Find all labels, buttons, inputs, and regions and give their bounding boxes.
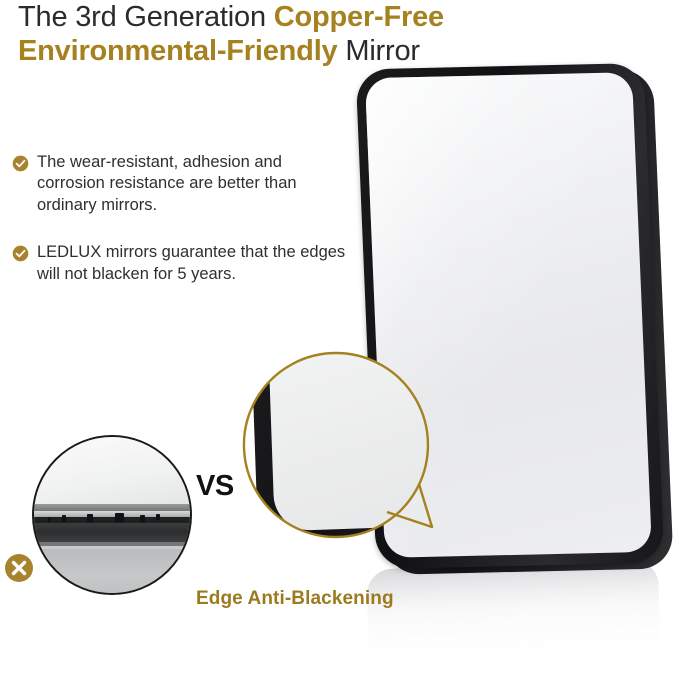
corrosion-speck — [48, 517, 51, 522]
corrosion-speck — [62, 515, 66, 522]
check-circle-icon — [12, 155, 29, 172]
corrosion-speck — [87, 514, 93, 522]
feature-list: The wear-resistant, adhesion and corrosi… — [12, 152, 352, 311]
corrosion-speck — [115, 513, 124, 522]
magnifier-tail — [387, 484, 432, 527]
title-line-1: The 3rd Generation Copper-Free — [18, 0, 658, 34]
title-text-gold-2: Environmental-Friendly — [18, 35, 338, 67]
list-item: The wear-resistant, adhesion and corrosi… — [12, 152, 352, 216]
caption-label: Edge Anti-Blackening — [196, 588, 394, 610]
x-circle-icon — [4, 553, 34, 583]
photo-band-glass-top — [32, 437, 192, 506]
title-text-plain-1: The 3rd Generation — [18, 1, 274, 33]
list-item-label: LEDLUX mirrors guarantee that the edges … — [37, 242, 352, 285]
blackened-edge-photo — [32, 435, 192, 595]
photo-band-corrosion — [32, 523, 192, 543]
corrosion-speck — [156, 514, 160, 520]
mirror-floor-reflection — [366, 558, 662, 689]
magnifier-outline — [236, 345, 456, 575]
magnifier-callout — [236, 345, 456, 575]
list-item-label: The wear-resistant, adhesion and corrosi… — [37, 152, 352, 216]
check-circle-icon — [12, 245, 29, 262]
list-item: LEDLUX mirrors guarantee that the edges … — [12, 242, 352, 285]
title-text-gold-1: Copper-Free — [274, 1, 444, 33]
corrosion-speck — [140, 515, 145, 522]
photo-band-glass-bottom — [32, 549, 192, 593]
vs-label: VS — [196, 470, 234, 503]
